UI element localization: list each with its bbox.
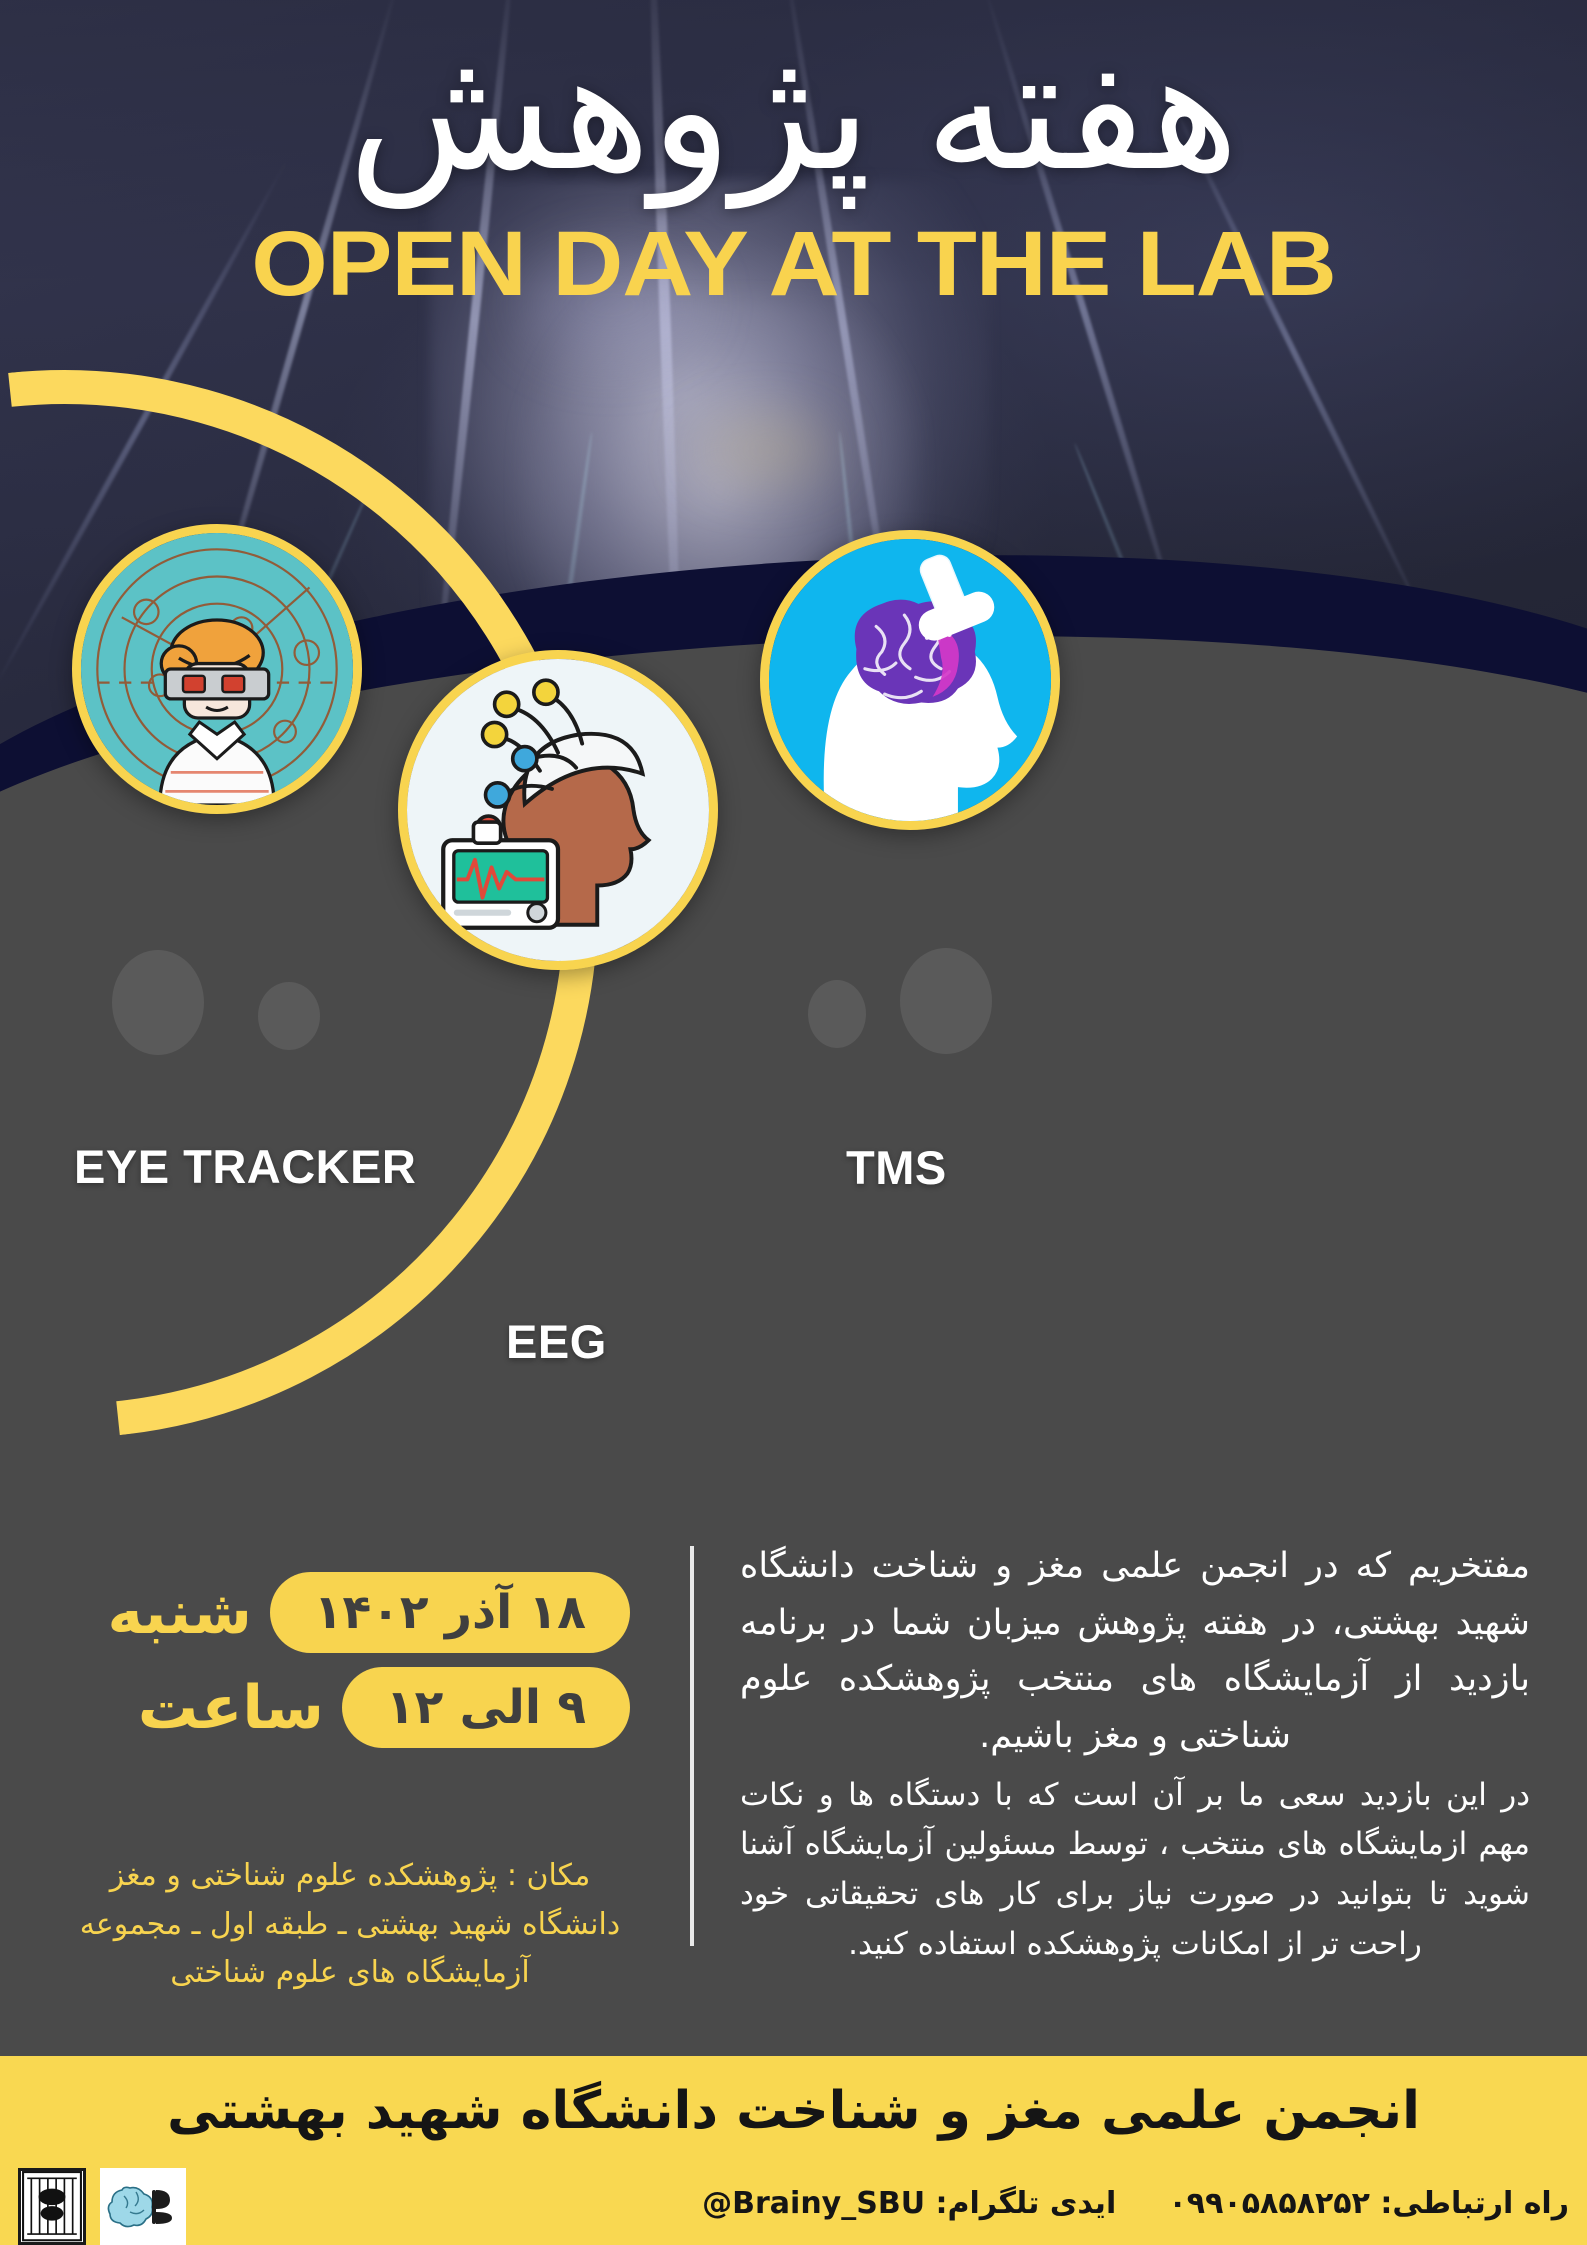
info-divider [690,1546,694,1946]
telegram-label: ایدی تلگرام: [936,2186,1117,2221]
telegram-handle[interactable]: @Brainy_SBU [702,2186,925,2221]
tms-icon [760,530,1060,830]
schedule-time-value: ۹ الی ۱۲ [342,1667,630,1748]
contact-phone: ۰۹۹۰۵۸۵۸۲۵۲ [1168,2186,1369,2221]
contact-label: راه ارتباطی: [1380,2186,1569,2221]
schedule-day-row: ۱۸ آذر ۱۴۰۲ شنبه [70,1572,630,1653]
poster-root: هفته پژوهش OPEN DAY AT THE LAB [0,0,1587,2245]
contact-info: راه ارتباطی: ۰۹۹۰۵۸۵۸۲۵۲ ایدی تلگرام: @B… [702,2186,1569,2221]
schedule-block: ۱۸ آذر ۱۴۰۲ شنبه ۹ الی ۱۲ ساعت [70,1572,630,1762]
decorative-dot [112,950,204,1055]
organization-banner: انجمن علمی مغز و شناخت دانشگاه شهید بهشت… [0,2056,1587,2166]
eeg-icon [398,650,718,970]
modality-label-tms: TMS [846,1140,947,1195]
schedule-time-row: ۹ الی ۱۲ ساعت [70,1667,630,1748]
venue-text: مکان : پژوهشکده علوم شناختی و مغز دانشگا… [60,1852,640,1998]
schedule-time-label: ساعت [138,1673,324,1743]
schedule-day-label: شنبه [107,1578,251,1648]
shahid-beheshti-university-logo [18,2168,86,2245]
modality-label-eye-tracker: EYE TRACKER [74,1139,416,1194]
description-block: مفتخریم که در انجمن علمی مغز و شناخت دان… [740,1538,1530,1975]
description-paragraph-2: در این بازدید سعی ما بر آن است که با دست… [740,1771,1530,1969]
page-title-en: OPEN DAY AT THE LAB [0,218,1587,310]
brainy-sbu-logo [100,2168,186,2245]
schedule-day-value: ۱۸ آذر ۱۴۰۲ [270,1572,630,1653]
modality-label-eeg: EEG [506,1314,607,1369]
description-paragraph-1: مفتخریم که در انجمن علمی مغز و شناخت دان… [740,1538,1530,1765]
page-title-fa: هفته پژوهش [0,22,1587,198]
organization-name: انجمن علمی مغز و شناخت دانشگاه شهید بهشت… [167,2081,1420,2141]
eye-tracker-icon [72,524,362,814]
decorative-dot [900,948,992,1054]
decorative-dot [258,982,320,1050]
decorative-dot [808,980,866,1048]
